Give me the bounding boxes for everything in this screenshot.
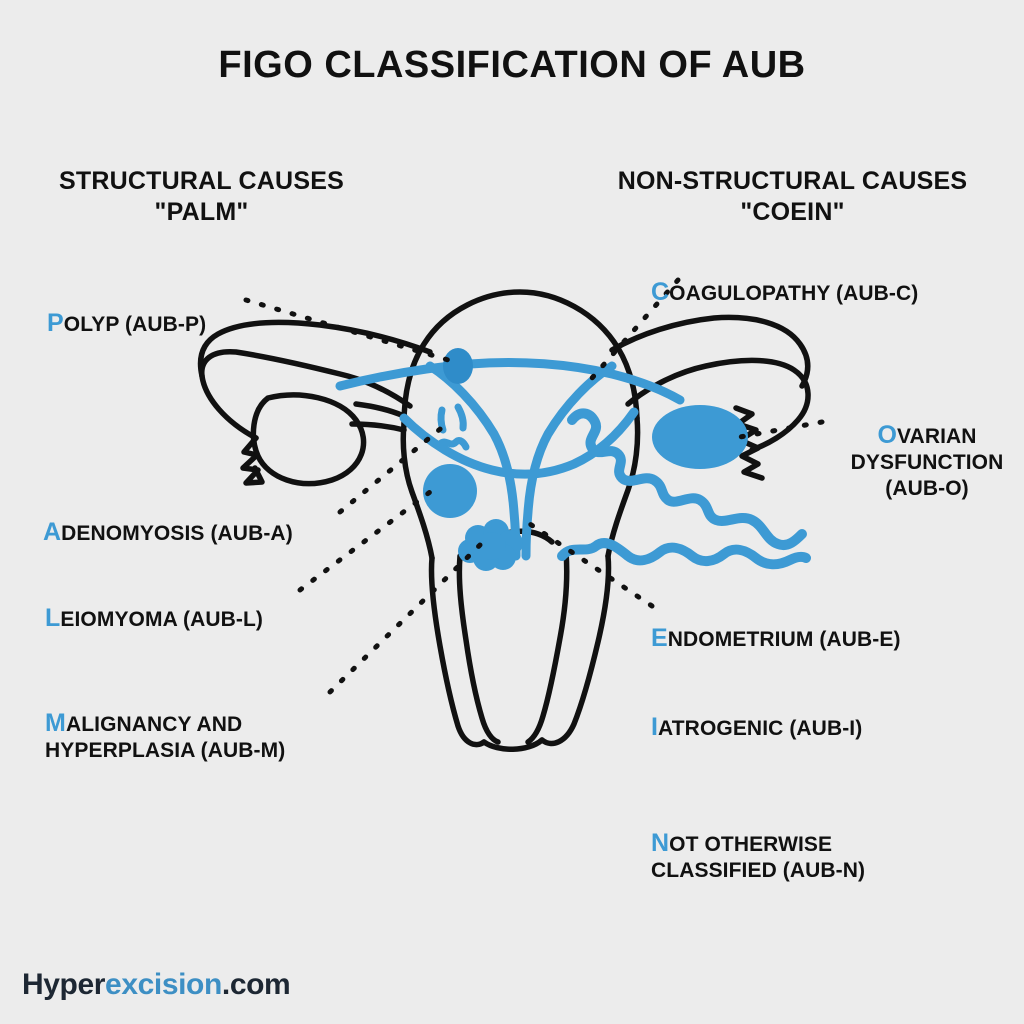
label-coagulopathy-initial: C (651, 278, 669, 306)
heading-structural-acronym: "PALM" (24, 197, 379, 228)
leader-adenomyosis (340, 425, 445, 512)
heading-nonstructural-line1: NON-STRUCTURAL CAUSES (618, 167, 968, 195)
bleeding-wave-upper (572, 413, 802, 545)
vagina-left-inner-wall (459, 556, 498, 742)
label-endometrium-initial: E (651, 624, 668, 652)
label-malignancy-text: ALIGNANCY AND HYPERPLASIA (AUB-M) (45, 713, 285, 763)
heading-structural-causes: STRUCTURAL CAUSES "PALM" (24, 166, 379, 229)
label-noc-text: OT OTHERWISE CLASSIFIED (AUB-N) (651, 833, 865, 883)
left-fallopian-tube-upper (201, 322, 430, 376)
leiomyoma-mass (423, 464, 477, 518)
left-fallopian-tube-lower (202, 352, 410, 438)
label-malignancy-initial: M (45, 709, 66, 737)
uterine-body-blue-arc (404, 412, 634, 474)
heading-nonstructural-acronym: "COEIN" (575, 197, 1010, 228)
uterine-fundus-outline (404, 292, 637, 424)
label-endometrium[interactable]: ENDOMETRIUM (AUB-E) (651, 603, 901, 653)
right-fallopian-tube-lower (612, 317, 808, 386)
malignancy-cluster (458, 519, 523, 571)
leader-polyp (246, 300, 455, 362)
right-fimbriae (736, 408, 762, 478)
label-adenomyosis-text: DENOMYOSIS (AUB-A) (61, 522, 293, 545)
leader-endometrium (524, 520, 652, 606)
label-coagulopathy[interactable]: COAGULOPATHY (AUB-C) (651, 257, 918, 307)
label-leiomyoma-text: EIOMYOMA (AUB-L) (60, 608, 263, 631)
label-leiomyoma-initial: L (45, 604, 60, 632)
watermark-part-excision: excision (105, 968, 222, 1001)
label-adenomyosis-initial: A (43, 518, 61, 546)
diagram-page: FIGO CLASSIFICATION OF AUB STRUCTURAL CA… (0, 0, 1024, 1024)
cervix-arch (492, 531, 552, 542)
left-cornu-line-b (352, 424, 404, 430)
label-malignancy[interactable]: MALIGNANCY AND HYPERPLASIA (AUB-M) (45, 688, 285, 764)
right-ovary-filled (652, 405, 748, 469)
vagina-right-inner-wall (528, 552, 567, 742)
heading-structural-line1: STRUCTURAL CAUSES (59, 167, 344, 195)
bleeding-wave-lower (562, 543, 806, 564)
polyp-nodule (443, 348, 473, 384)
leader-leiomyoma (300, 492, 430, 590)
uterine-right-wall (608, 418, 638, 556)
endometrial-cavity-left (430, 366, 516, 556)
label-adenomyosis[interactable]: ADENOMYOSIS (AUB-A) (43, 497, 293, 547)
label-iatrogenic-text: ATROGENIC (AUB-I) (658, 717, 862, 740)
adenomyosis-specks (440, 407, 466, 447)
leader-ovarian (740, 422, 822, 437)
left-cornu-line-a (356, 404, 404, 416)
label-leiomyoma[interactable]: LEIOMYOMA (AUB-L) (45, 583, 263, 633)
label-noc-initial: N (651, 829, 669, 857)
label-not-otherwise-classified[interactable]: NOT OTHERWISE CLASSIFIED (AUB-N) (651, 808, 865, 884)
label-endometrium-text: NDOMETRIUM (AUB-E) (668, 628, 901, 651)
inner-myometrium-line (340, 362, 680, 400)
uterine-left-wall (403, 424, 432, 558)
label-iatrogenic[interactable]: IATROGENIC (AUB-I) (651, 692, 862, 742)
leader-malignancy (330, 545, 480, 692)
vagina-right-outer-wall (542, 556, 609, 743)
label-coagulopathy-text: OAGULOPATHY (AUB-C) (669, 282, 918, 305)
left-ovary-outline (253, 395, 363, 484)
watermark-part-hyper: Hyper (22, 968, 105, 1001)
watermark-part-domain: .com (222, 968, 290, 1001)
page-title: FIGO CLASSIFICATION OF AUB (0, 44, 1024, 87)
label-ovarian-text: VARIAN DYSFUNCTION (AUB-O) (851, 425, 1004, 500)
right-fallopian-tube-upper (628, 360, 808, 450)
label-polyp-initial: P (47, 309, 64, 337)
vaginal-introitus (484, 740, 542, 749)
label-polyp-text: OLYP (AUB-P) (64, 313, 206, 336)
label-polyp[interactable]: POLYP (AUB-P) (47, 288, 206, 338)
label-ovarian-initial: O (877, 421, 897, 449)
left-fimbriae (243, 438, 262, 483)
vagina-left-outer-wall (431, 558, 484, 745)
heading-nonstructural-causes: NON-STRUCTURAL CAUSES "COEIN" (575, 166, 1010, 229)
label-ovarian-dysfunction[interactable]: OVARIAN DYSFUNCTION (AUB-O) (830, 400, 1024, 501)
watermark-hyperexcision[interactable]: Hyperexcision.com (22, 968, 290, 1002)
endometrial-cavity-right (526, 366, 612, 556)
label-iatrogenic-initial: I (651, 713, 658, 741)
